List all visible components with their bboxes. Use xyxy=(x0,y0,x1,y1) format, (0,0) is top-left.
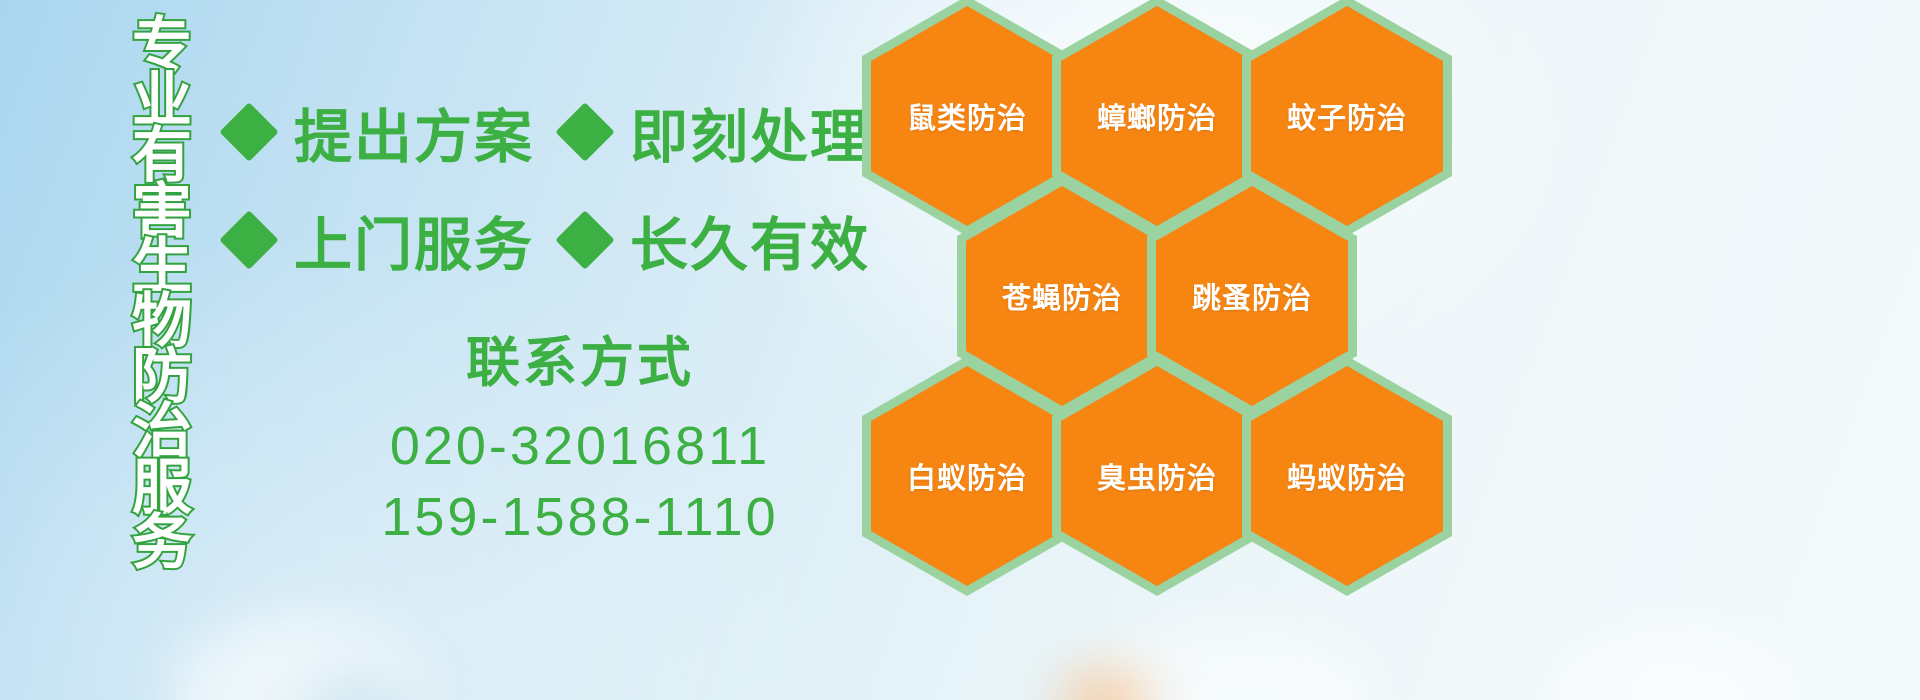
feature-row: 上门服务 长久有效 xyxy=(228,186,868,294)
contact-block: 联系方式 020-32016811 159-1588-1110 xyxy=(300,318,860,554)
feature-label: 提出方案 xyxy=(294,90,534,174)
service-hexagon-label: 跳蚤防治 xyxy=(1192,275,1312,317)
service-hexagon-label: 蟑螂防治 xyxy=(1097,95,1217,137)
feature-label: 上门服务 xyxy=(294,198,534,282)
vertical-title-char: 务 xyxy=(132,515,192,570)
vertical-title-char: 专 xyxy=(132,18,192,73)
service-hexagon-label: 鼠类防治 xyxy=(907,95,1027,137)
background-blob xyxy=(1060,670,1150,700)
background-blob xyxy=(300,670,420,700)
service-hexagon-grid: 鼠类防治 蟑螂防治 蚊子防治 苍蝇防治 跳蚤防治 白蚁防治 臭虫防治 xyxy=(856,0,1476,552)
service-hexagon-label: 苍蝇防治 xyxy=(1002,275,1122,317)
background-blob xyxy=(1540,620,1800,700)
contact-title: 联系方式 xyxy=(300,318,860,397)
service-hexagon-label: 蚊子防治 xyxy=(1287,95,1407,137)
feature-label: 即刻处理 xyxy=(630,90,870,174)
service-hexagon-label: 蚂蚁防治 xyxy=(1287,455,1407,497)
vertical-title-char: 害 xyxy=(132,184,192,239)
diamond-bullet-icon xyxy=(555,210,614,269)
feature-row: 提出方案 即刻处理 xyxy=(228,78,868,186)
service-hexagon-label: 白蚁防治 xyxy=(907,455,1027,497)
phone-number-mobile[interactable]: 159-1588-1110 xyxy=(300,482,860,553)
promo-banner: 专 业 有 害 生 物 防 治 服 务 提出方案 即刻处理 上门服务 长久有效 … xyxy=(0,0,1920,700)
vertical-title-char: 治 xyxy=(132,404,192,459)
vertical-title-char: 服 xyxy=(132,460,192,515)
feature-list: 提出方案 即刻处理 上门服务 长久有效 xyxy=(228,78,868,294)
background-blob xyxy=(170,620,430,700)
vertical-title-char: 生 xyxy=(132,239,192,294)
vertical-title-char: 有 xyxy=(132,128,192,183)
vertical-title-char: 业 xyxy=(132,73,192,128)
diamond-bullet-icon xyxy=(555,102,614,161)
diamond-bullet-icon xyxy=(219,102,278,161)
feature-label: 长久有效 xyxy=(630,198,870,282)
phone-number-landline[interactable]: 020-32016811 xyxy=(300,411,860,482)
service-hexagon-label: 臭虫防治 xyxy=(1097,455,1217,497)
background-blob xyxy=(1080,620,1380,700)
vertical-title-char: 防 xyxy=(132,349,192,404)
vertical-title-char: 物 xyxy=(132,294,192,349)
diamond-bullet-icon xyxy=(219,210,278,269)
vertical-title: 专 业 有 害 生 物 防 治 服 务 xyxy=(112,18,212,570)
